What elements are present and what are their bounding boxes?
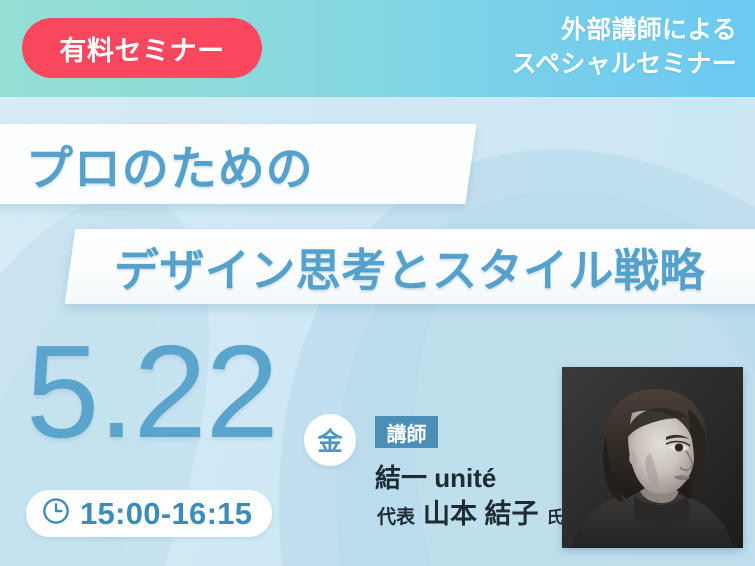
- speaker-organization: 結一 unité: [375, 458, 496, 495]
- speaker-name-row: 代表 山本 結子 氏: [377, 492, 564, 531]
- title-line-2: デザイン思考とスタイル戦略: [114, 234, 705, 299]
- top-right-heading-line1: 外部講師による: [511, 14, 737, 48]
- speaker-role: 代表: [377, 502, 415, 529]
- speaker-portrait: [562, 367, 743, 548]
- title-band-primary: プロのための: [0, 124, 477, 204]
- speaker-name-suffix: 氏: [547, 503, 564, 528]
- lecturer-badge: 講師: [375, 416, 438, 448]
- weekday-badge: 金: [304, 414, 356, 466]
- paid-seminar-badge: 有料セミナー: [22, 18, 262, 78]
- title-band-secondary: デザイン思考とスタイル戦略: [65, 229, 755, 304]
- event-time-pill: 15:00-16:15: [26, 490, 272, 537]
- seminar-banner: 有料セミナー 外部講師による スペシャルセミナー プロのための デザイン思考とス…: [0, 0, 755, 566]
- event-date: 5.22: [26, 326, 278, 458]
- speaker-portrait-image: [562, 367, 743, 548]
- event-time-text: 15:00-16:15: [80, 496, 252, 532]
- top-right-heading-line2: スペシャルセミナー: [511, 48, 737, 82]
- clock-icon: [41, 496, 71, 531]
- title-line-1: プロのための: [26, 130, 314, 199]
- speaker-name: 山本 結子: [423, 492, 539, 531]
- top-right-heading: 外部講師による スペシャルセミナー: [511, 14, 737, 81]
